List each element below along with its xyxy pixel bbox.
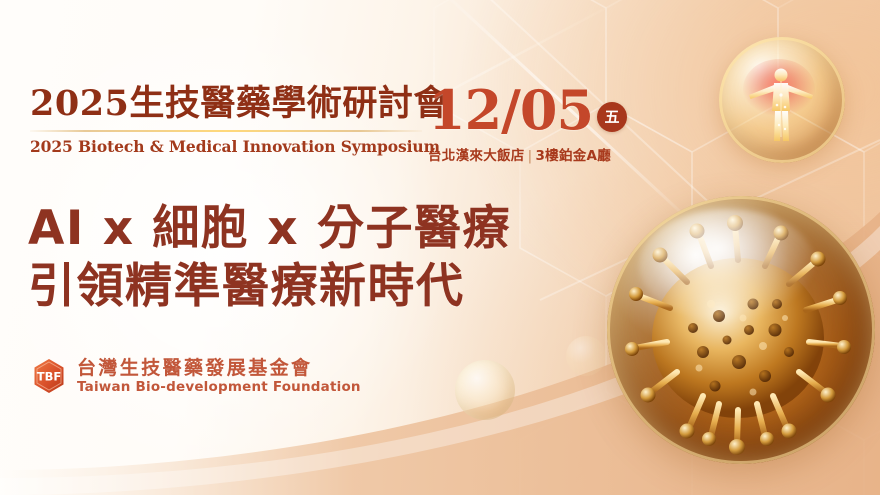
organizer-name-cn: 台灣生技醫藥發展基金會 xyxy=(77,358,361,379)
tbf-mark-text: TBF xyxy=(37,370,61,384)
organizer-name-en: Taiwan Bio-development Foundation xyxy=(77,380,361,395)
venue-line: 台北漢來大飯店|3樓鉑金A廳 xyxy=(428,144,648,164)
organizer-logo: TBF 台灣生技醫藥發展基金會 Taiwan Bio-development F… xyxy=(30,357,361,395)
weekday-badge: 五 xyxy=(597,102,627,132)
title-block: 2025生技醫藥學術研討會 2025 Biotech & Medical Inn… xyxy=(30,86,422,156)
headline-line-1: AI x 細胞 x 分子醫療 xyxy=(28,200,511,258)
headline-line-2: 引領精準醫療新時代 xyxy=(28,258,511,316)
tbf-hexagon-logo-icon: TBF xyxy=(30,357,68,395)
venue-room: 3樓鉑金A廳 xyxy=(535,148,611,164)
event-poster: 2025生技醫藥學術研討會 2025 Biotech & Medical Inn… xyxy=(0,0,880,495)
headline-block: AI x 細胞 x 分子醫療 引領精準醫療新時代 xyxy=(28,200,511,316)
date-block: 12/05 五 台北漢來大飯店|3樓鉑金A廳 xyxy=(428,84,648,164)
page-title: 2025生技醫藥學術研討會 xyxy=(30,86,422,123)
title-divider xyxy=(30,130,422,132)
venue-separator: | xyxy=(528,148,533,164)
page-subtitle: 2025 Biotech & Medical Innovation Sympos… xyxy=(30,137,422,156)
venue-name: 台北漢來大飯店 xyxy=(428,148,525,164)
event-date: 12/05 xyxy=(428,84,593,137)
